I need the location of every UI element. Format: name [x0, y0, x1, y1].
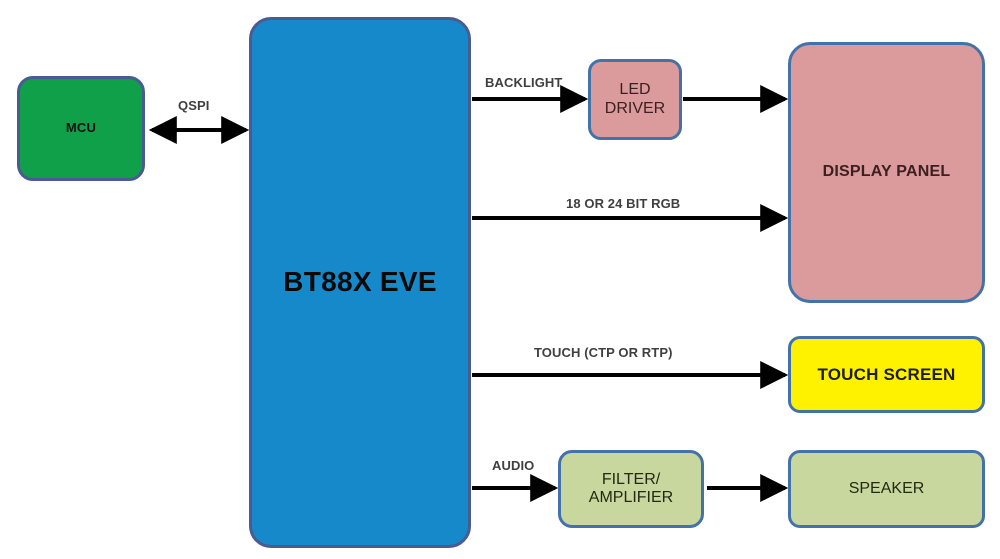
block-led-driver-label: LED DRIVER: [605, 81, 665, 118]
block-mcu[interactable]: MCU: [17, 76, 145, 181]
block-touch-screen-label: TOUCH SCREEN: [817, 365, 955, 385]
block-touch-screen[interactable]: TOUCH SCREEN: [788, 336, 985, 413]
block-speaker[interactable]: SPEAKER: [788, 450, 985, 528]
block-speaker-label: SPEAKER: [849, 480, 925, 498]
connection-label-rgb: 18 OR 24 BIT RGB: [566, 196, 680, 211]
block-bt88x-eve[interactable]: BT88X EVE: [249, 17, 471, 548]
connection-label-audio: AUDIO: [492, 458, 534, 473]
block-diagram-canvas: MCU BT88X EVE LED DRIVER DISPLAY PANEL T…: [0, 0, 1000, 559]
block-display-panel-label: DISPLAY PANEL: [823, 163, 951, 181]
block-bt88x-eve-label: BT88X EVE: [283, 266, 437, 298]
connection-label-qspi: QSPI: [178, 98, 209, 113]
block-filter-amplifier[interactable]: FILTER/ AMPLIFIER: [558, 450, 704, 528]
connection-label-backlight: BACKLIGHT: [485, 75, 562, 90]
block-filter-amplifier-label: FILTER/ AMPLIFIER: [589, 471, 673, 508]
block-mcu-label: MCU: [66, 121, 96, 136]
connection-label-touch: TOUCH (CTP OR RTP): [534, 345, 673, 360]
block-display-panel[interactable]: DISPLAY PANEL: [788, 42, 985, 303]
block-led-driver[interactable]: LED DRIVER: [588, 59, 682, 140]
